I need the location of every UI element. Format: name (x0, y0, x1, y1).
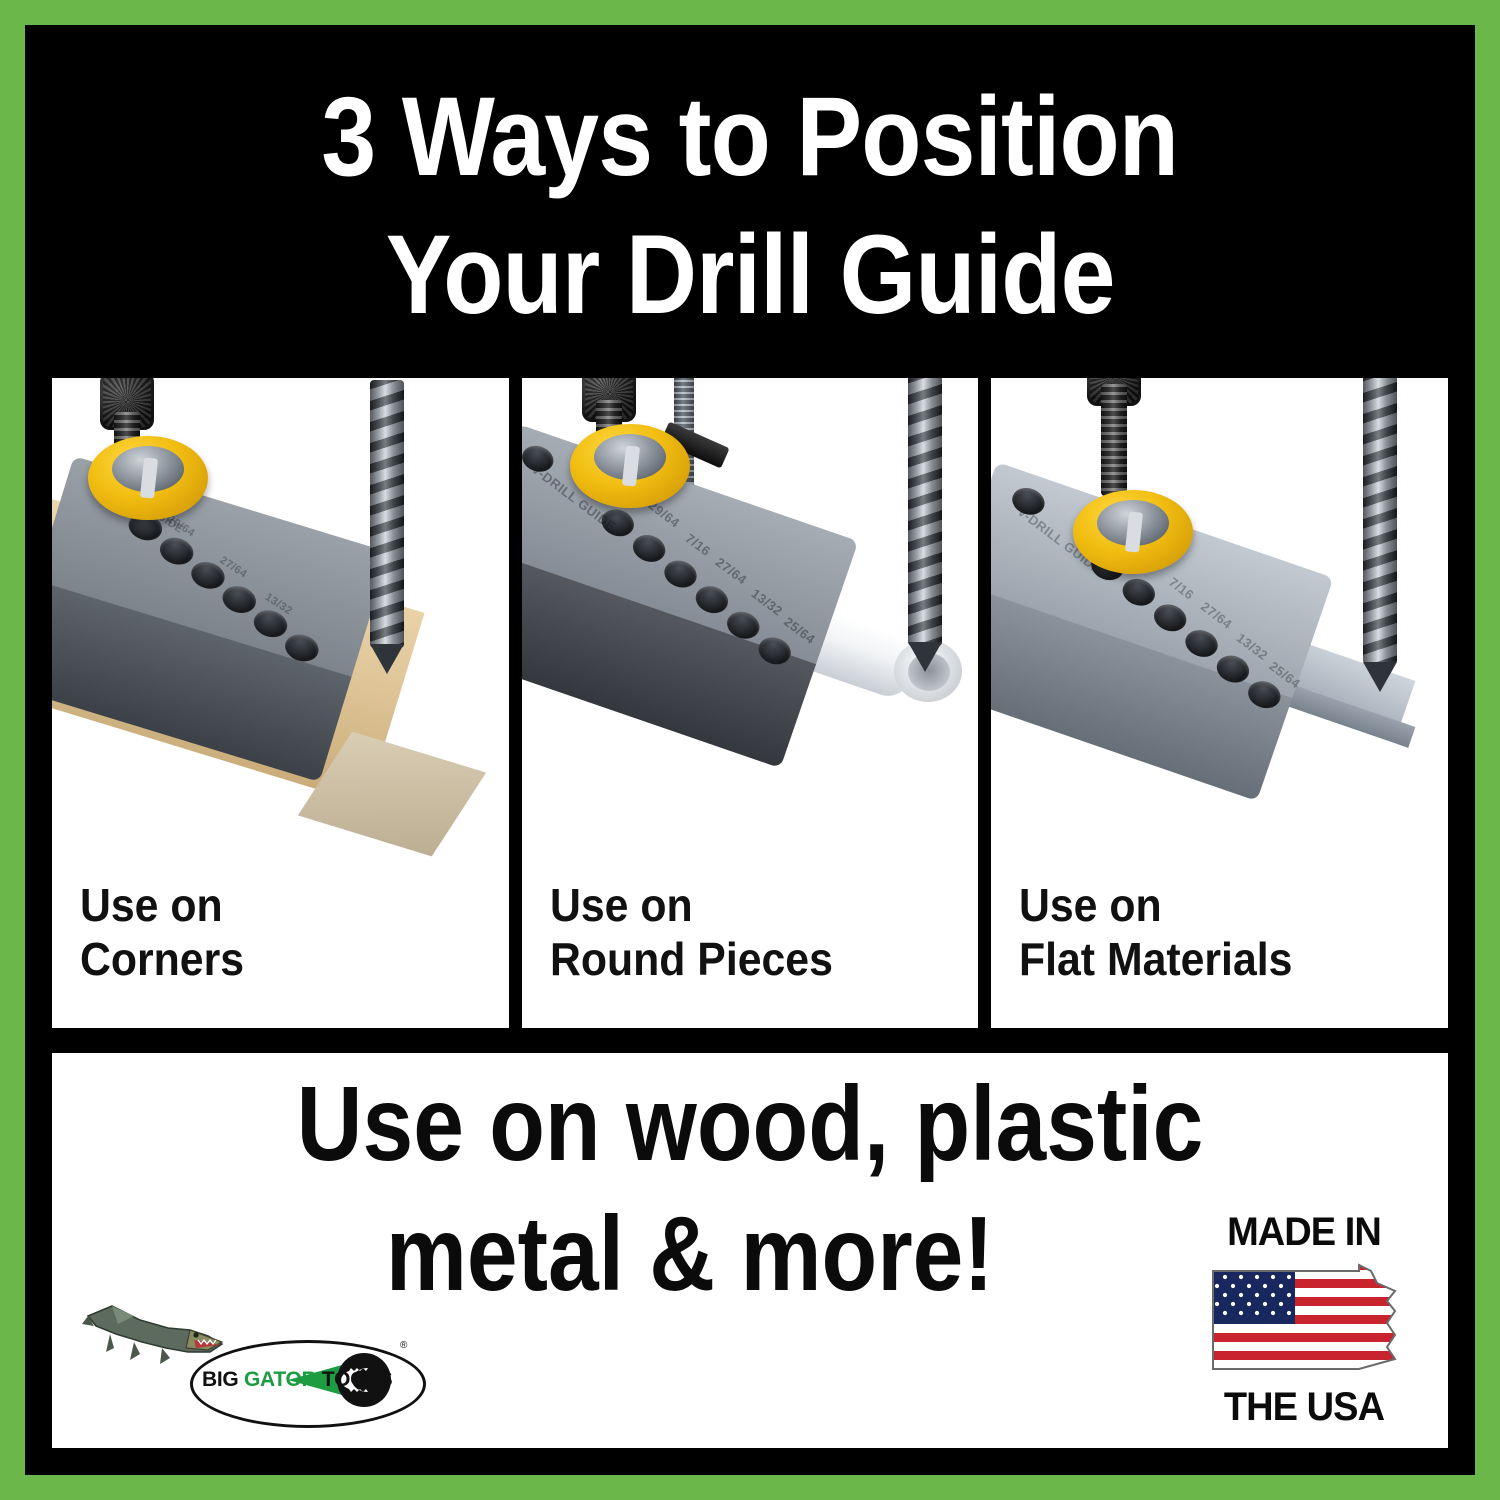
bushing-slot-icon (140, 457, 158, 498)
drill-bit-icon (908, 378, 942, 646)
yellow-bushing-icon (1073, 490, 1193, 574)
drill-bit-tip-icon (1363, 662, 1397, 692)
tagline-line-1: Use on wood, plastic (150, 1071, 1351, 1177)
panel-caption: Use on Round Pieces (550, 879, 833, 986)
registered-trademark-icon: ® (400, 1340, 407, 1351)
usa-flag-icon (1209, 1261, 1399, 1379)
panel-use-on-round-pieces[interactable]: V-DRILL GUIDE 29/64 7/16 27/64 13/32 25/… (522, 378, 979, 1028)
logo-word-tools: TOOLS (322, 1368, 392, 1391)
panel-caption: Use on Corners (80, 879, 244, 986)
panel-use-on-flat-materials[interactable]: V-DRILL GUIDE 29/64 7/16 27/64 13/32 25/… (991, 378, 1448, 1028)
title-line-1: 3 Ways to Position (322, 81, 1179, 193)
drill-bit-icon (1363, 378, 1397, 664)
made-in-usa-bottom-text: THE USA (1201, 1385, 1406, 1430)
title-block: 3 Ways to Position Your Drill Guide (25, 25, 1475, 378)
yellow-bushing-icon (570, 424, 690, 508)
panel-row: V-DRILL GUIDE 29/64 27/64 13/32 Use on C… (52, 378, 1448, 1028)
poster-root: 3 Ways to Position Your Drill Guide (0, 0, 1500, 1500)
logo-wordmark: BIG GATOR TOOLS (202, 1368, 392, 1392)
made-in-usa-top-text: MADE IN (1201, 1210, 1406, 1255)
logo-word-big: BIG (202, 1368, 238, 1391)
drill-bit-icon (370, 380, 404, 648)
panel-caption: Use on Flat Materials (1019, 879, 1292, 986)
panel-use-on-corners[interactable]: V-DRILL GUIDE 29/64 27/64 13/32 Use on C… (52, 378, 509, 1028)
logo-word-gator: GATOR (244, 1368, 316, 1391)
bottom-block: Use on wood, plastic metal & more! (52, 1041, 1448, 1448)
drill-bit-tip-icon (908, 642, 942, 672)
clamp-screw-icon (1101, 384, 1127, 496)
bushing-slot-icon (1125, 511, 1143, 552)
brand-logo[interactable]: BIG GATOR TOOLS ® (82, 1288, 422, 1428)
yellow-bushing-icon (88, 436, 208, 520)
poster-frame: 3 Ways to Position Your Drill Guide (25, 25, 1475, 1475)
made-in-usa-badge: MADE IN (1196, 1210, 1412, 1430)
bottom-inner: Use on wood, plastic metal & more! (52, 1053, 1448, 1448)
drill-bit-tip-icon (370, 644, 404, 674)
title-line-2: Your Drill Guide (386, 219, 1115, 331)
